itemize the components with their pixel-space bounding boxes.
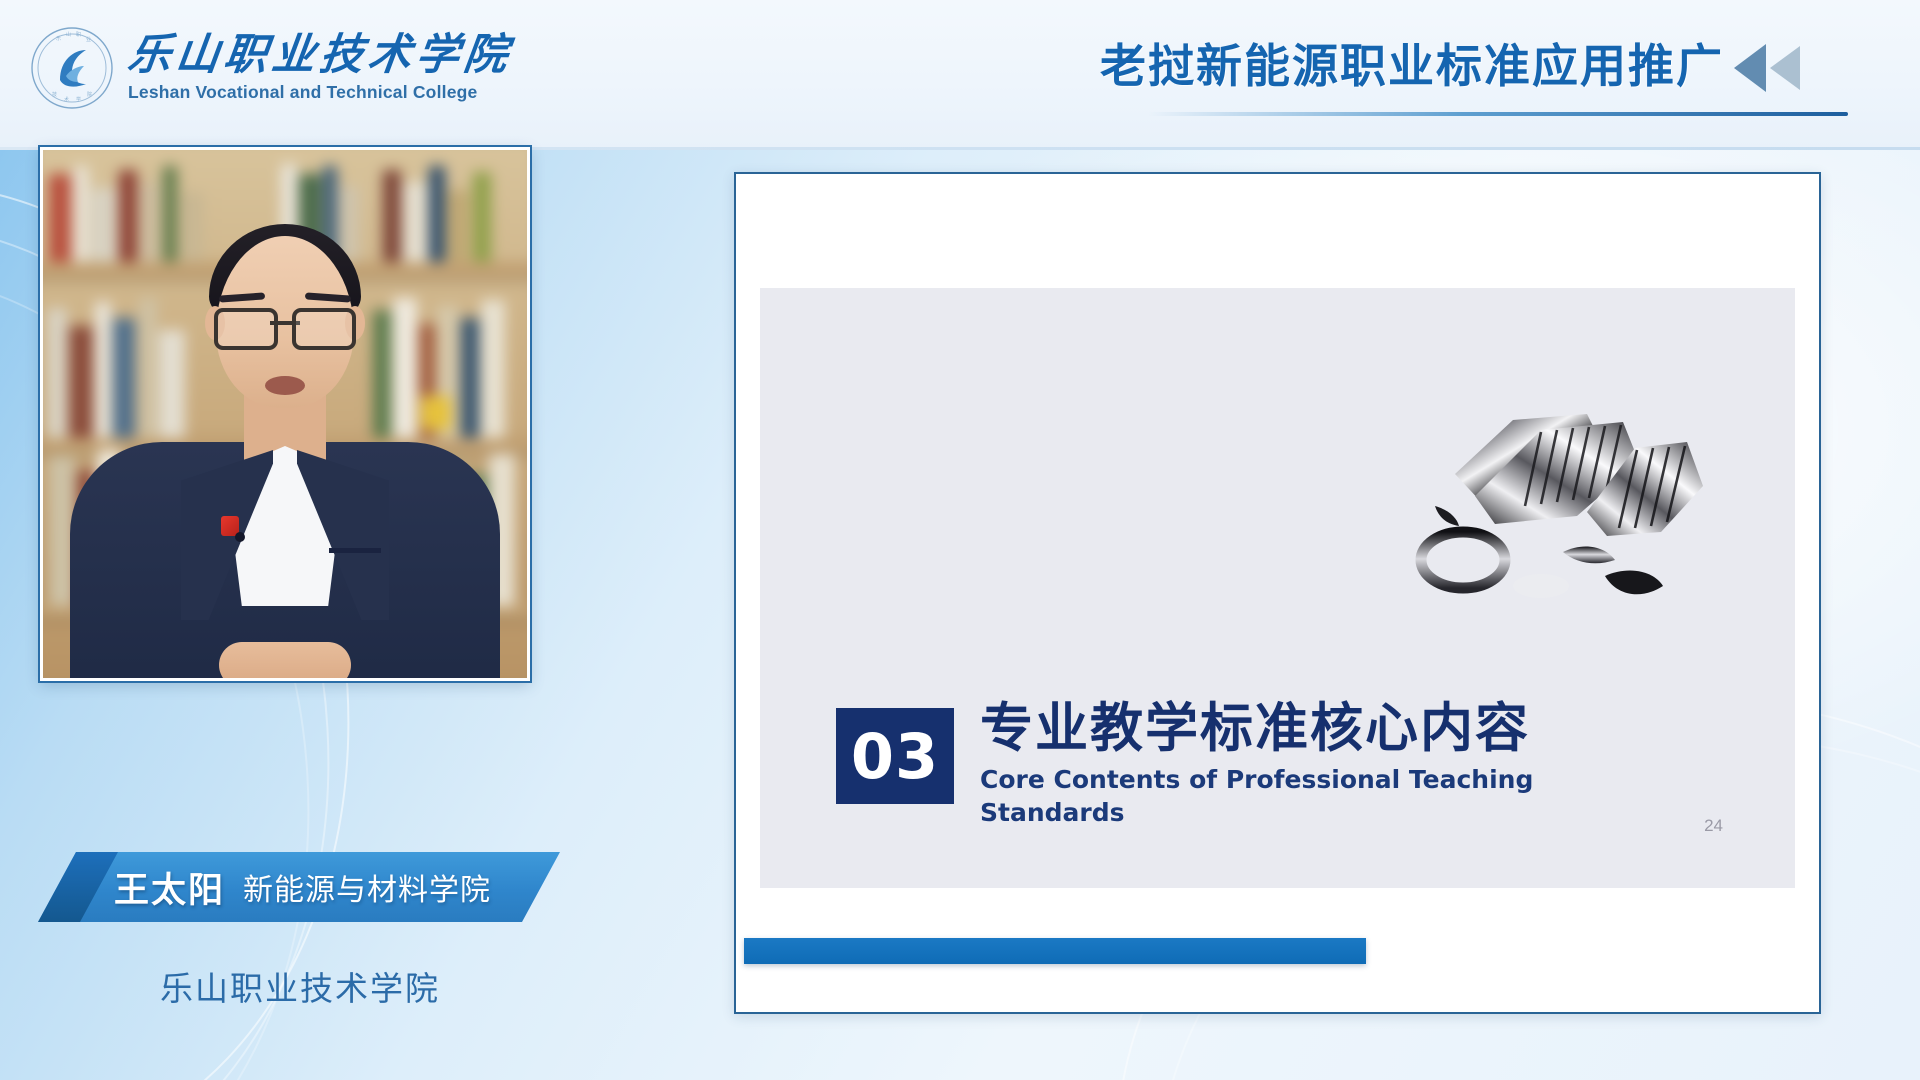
college-logo-text: 乐山职业技术学院 Leshan Vocational and Technical… [128,34,512,102]
metallic-pen-nibs-icon [1391,400,1721,620]
svg-text:职: 职 [76,32,81,38]
slide-frame[interactable]: 03 专业教学标准核心内容 Core Contents of Professio… [734,172,1821,1014]
presenter-name-banner: 王太阳 新能源与材料学院 [38,852,560,922]
college-name-cn: 乐山职业技术学院 [125,34,514,77]
header-title-group: 老挝新能源职业标准应用推广 [1100,30,1802,96]
page-header: 乐山职业 技术学院 乐山职业技术学院 Leshan Vocational and… [0,0,1920,150]
section-heading: 03 专业教学标准核心内容 Core Contents of Professio… [836,708,1540,829]
header-underline [1148,112,1848,116]
svg-text:技: 技 [52,91,57,98]
presenter-figure [43,150,527,678]
eyeglasses-icon [214,308,356,344]
presenter-name: 王太阳 [114,862,225,913]
slide-content-area: 03 专业教学标准核心内容 Core Contents of Professio… [760,288,1795,888]
college-name-en: Leshan Vocational and Technical College [128,84,512,102]
svg-text:业: 业 [86,36,91,43]
svg-text:乐: 乐 [56,35,61,42]
college-logo: 乐山职业 技术学院 乐山职业技术学院 Leshan Vocational and… [30,26,512,110]
presenter-organization: 乐山职业技术学院 [40,962,560,1010]
slide-page-number: 24 [1704,816,1723,836]
presenter-video[interactable] [40,147,530,681]
svg-text:学: 学 [76,96,81,103]
section-number-badge: 03 [836,708,954,804]
svg-text:山: 山 [66,31,71,38]
svg-text:术: 术 [64,96,69,103]
presenter-department: 新能源与材料学院 [243,865,491,909]
college-seal-icon: 乐山职业 技术学院 [30,26,114,110]
presentation-screen: 乐山职业 技术学院 乐山职业技术学院 Leshan Vocational and… [0,0,1920,1080]
slide-bottom-bar [744,938,1366,964]
slide-top-margin [736,174,1819,288]
section-number: 03 [851,720,939,793]
svg-text:院: 院 [87,91,92,98]
page-title: 老挝新能源职业标准应用推广 [1100,30,1724,96]
section-title-en: Core Contents of Professional Teaching S… [980,763,1540,829]
section-title-cn: 专业教学标准核心内容 [980,700,1540,757]
lapel-microphone-icon [235,532,245,542]
double-chevron-left-icon [1732,42,1802,94]
